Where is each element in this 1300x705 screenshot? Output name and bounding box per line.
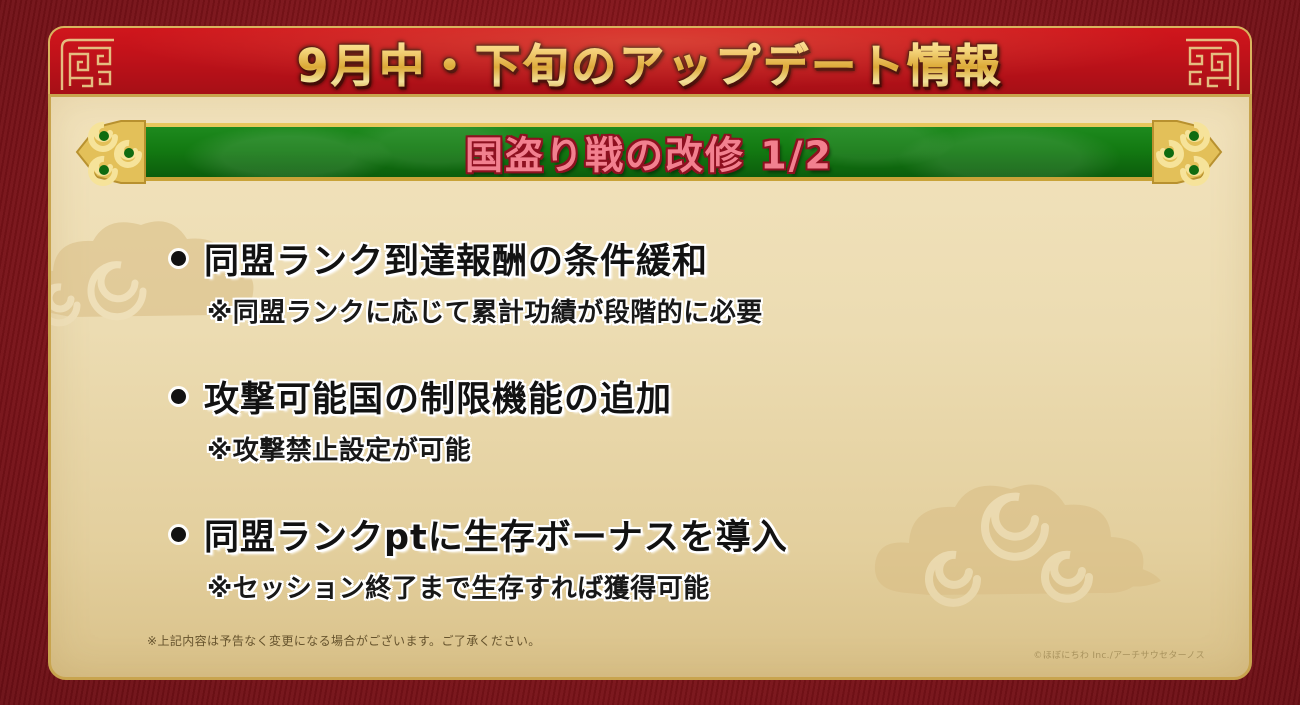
list-item-heading: 同盟ランクptに生存ボーナスを導入 bbox=[204, 509, 788, 560]
list-item-note: ※攻撃禁止設定が可能 bbox=[207, 430, 1209, 467]
page-title: 9月中・下旬のアップデート情報 bbox=[50, 30, 1250, 95]
bullet-dot-icon bbox=[171, 527, 186, 542]
list-item: 同盟ランクptに生存ボーナスを導入 ※セッション終了まで生存すれば獲得可能 bbox=[171, 509, 1209, 605]
disclaimer-text: ※上記内容は予告なく変更になる場合がございます。ご了承ください。 bbox=[147, 632, 541, 649]
section-title: 国盗り戦の改修 1/2 bbox=[119, 125, 1179, 180]
list-item: 同盟ランク到達報酬の条件緩和 ※同盟ランクに応じて累計功績が段階的に必要 bbox=[171, 233, 1209, 329]
list-item-heading-row: 同盟ランクptに生存ボーナスを導入 bbox=[171, 509, 1209, 560]
list-item-note: ※セッション終了まで生存すれば獲得可能 bbox=[207, 568, 1209, 605]
list-item-heading: 同盟ランク到達報酬の条件緩和 bbox=[204, 233, 708, 284]
section-banner: 国盗り戦の改修 1/2 bbox=[75, 115, 1223, 189]
tomoe-ornament-right-icon bbox=[1131, 115, 1223, 189]
list-item-heading-row: 同盟ランク到達報酬の条件緩和 bbox=[171, 233, 1209, 284]
list-item-heading-row: 攻撃可能国の制限機能の追加 bbox=[171, 371, 1209, 422]
bullet-dot-icon bbox=[171, 251, 186, 266]
content-panel: 国盗り戦の改修 1/2 bbox=[48, 94, 1252, 680]
list-item: 攻撃可能国の制限機能の追加 ※攻撃禁止設定が可能 bbox=[171, 371, 1209, 467]
slide-backdrop: 9月中・下旬のアップデート情報 bbox=[0, 0, 1300, 705]
list-item-heading: 攻撃可能国の制限機能の追加 bbox=[204, 371, 672, 422]
update-list: 同盟ランク到達報酬の条件緩和 ※同盟ランクに応じて累計功績が段階的に必要 攻撃可… bbox=[171, 233, 1209, 605]
bullet-dot-icon bbox=[171, 389, 186, 404]
list-item-note: ※同盟ランクに応じて累計功績が段階的に必要 bbox=[207, 292, 1209, 329]
copyright-text: ©ほぼにちわ Inc./アーチサウセターノス bbox=[1033, 648, 1205, 661]
section-banner-body: 国盗り戦の改修 1/2 bbox=[119, 123, 1179, 181]
tomoe-ornament-left-icon bbox=[75, 115, 167, 189]
title-banner: 9月中・下旬のアップデート情報 bbox=[48, 26, 1252, 96]
